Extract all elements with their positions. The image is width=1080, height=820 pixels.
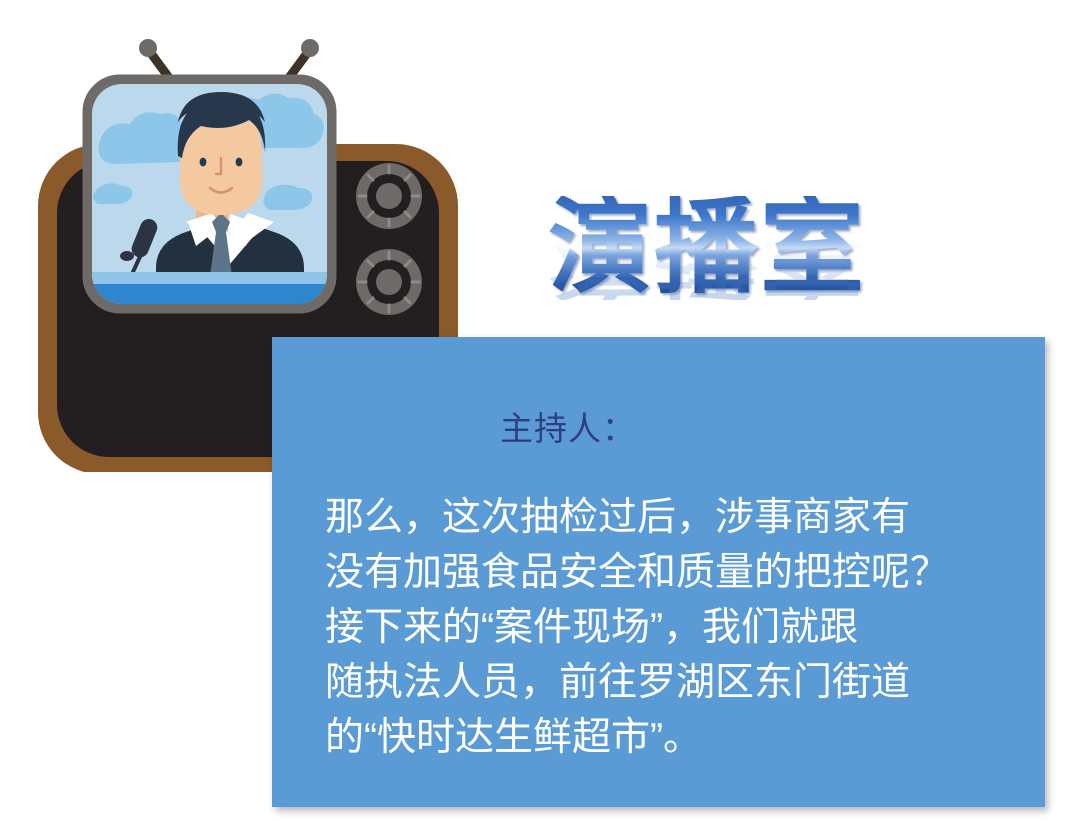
poster-canvas: 演播室 演播室 主持人： 那么，这次抽检过后，涉事商家有 没有加强食品安全和质量… bbox=[0, 0, 1080, 820]
tv-screen bbox=[84, 84, 334, 310]
tv-knob-upper bbox=[356, 163, 422, 229]
page-title: 演播室 演播室 bbox=[548, 196, 968, 346]
dialogue-body-text: 那么，这次抽检过后，涉事商家有 没有加强食品安全和质量的把控呢？ 接下来的“案件… bbox=[325, 490, 1015, 765]
tv-knob-lower bbox=[356, 249, 422, 315]
speaker-label: 主持人： bbox=[500, 414, 636, 447]
page-title-text: 演播室 bbox=[548, 196, 968, 300]
